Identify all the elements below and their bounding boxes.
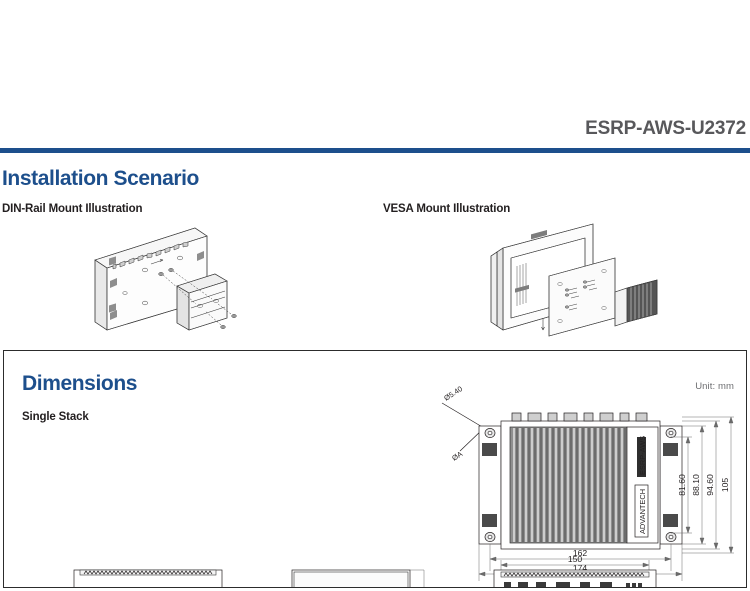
vesa-mount-illustration — [465, 218, 680, 340]
dimension-94-60: 94.60 — [705, 474, 715, 496]
top-view-middle — [292, 570, 424, 588]
callout-hole-label: ØA — [450, 449, 464, 462]
dimension-88-10: 88.10 — [691, 474, 701, 496]
single-stack-subtitle: Single Stack — [22, 411, 89, 423]
top-view-drawings-row: 150 — [4, 556, 747, 588]
datasheet-page: ESRP-AWS-U2372 Installation Scenario DIN… — [0, 0, 750, 591]
dimensions-section-title: Dimensions — [22, 372, 137, 396]
dimensions-panel: Dimensions Single Stack Unit: mm Ø5.40 Ø… — [3, 350, 747, 588]
callout-hole-diameter: Ø5.40 — [442, 384, 464, 403]
dimension-81-60: 81.60 — [677, 474, 687, 496]
din-rail-caption: DIN-Rail Mount Illustration — [2, 203, 142, 215]
din-rail-mount-illustration — [55, 218, 270, 340]
top-view-left — [74, 570, 222, 588]
installation-section-title: Installation Scenario — [2, 167, 199, 191]
dimension-105: 105 — [720, 478, 730, 493]
brand-side-text: ADVANTECH — [638, 489, 647, 534]
dimension-150: 150 — [568, 556, 583, 564]
header-divider-rule — [0, 148, 750, 153]
top-view-right: 150 — [494, 556, 656, 588]
model-title: ESRP-AWS-U2372 — [585, 118, 746, 139]
document-header: ESRP-AWS-U2372 — [0, 118, 750, 144]
model-side-text: ESRP-AWS — [638, 436, 647, 475]
vesa-caption: VESA Mount Illustration — [383, 203, 510, 215]
